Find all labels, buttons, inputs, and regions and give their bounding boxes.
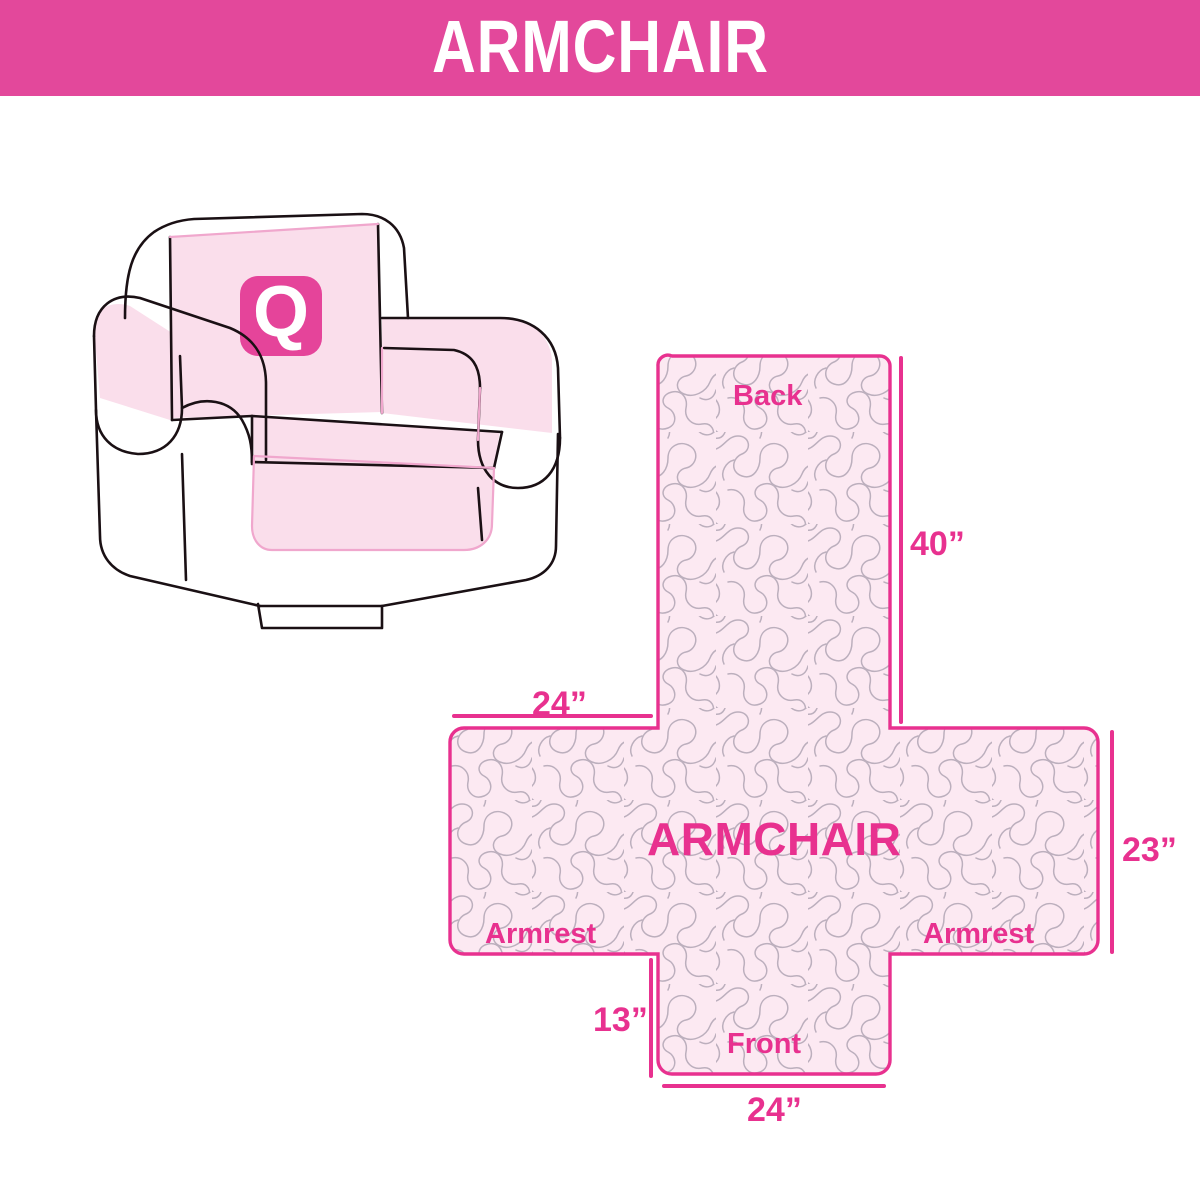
size-guide-page: ARMCHAIR Q (0, 0, 1200, 1200)
brand-badge-letter: Q (253, 272, 309, 352)
chair-left-wing-fill (94, 304, 172, 420)
header-banner: ARMCHAIR (0, 0, 1200, 96)
cover-pattern-diagram (440, 340, 1200, 1140)
quilt-texture-fill (440, 340, 1200, 1140)
page-title: ARMCHAIR (432, 10, 769, 84)
